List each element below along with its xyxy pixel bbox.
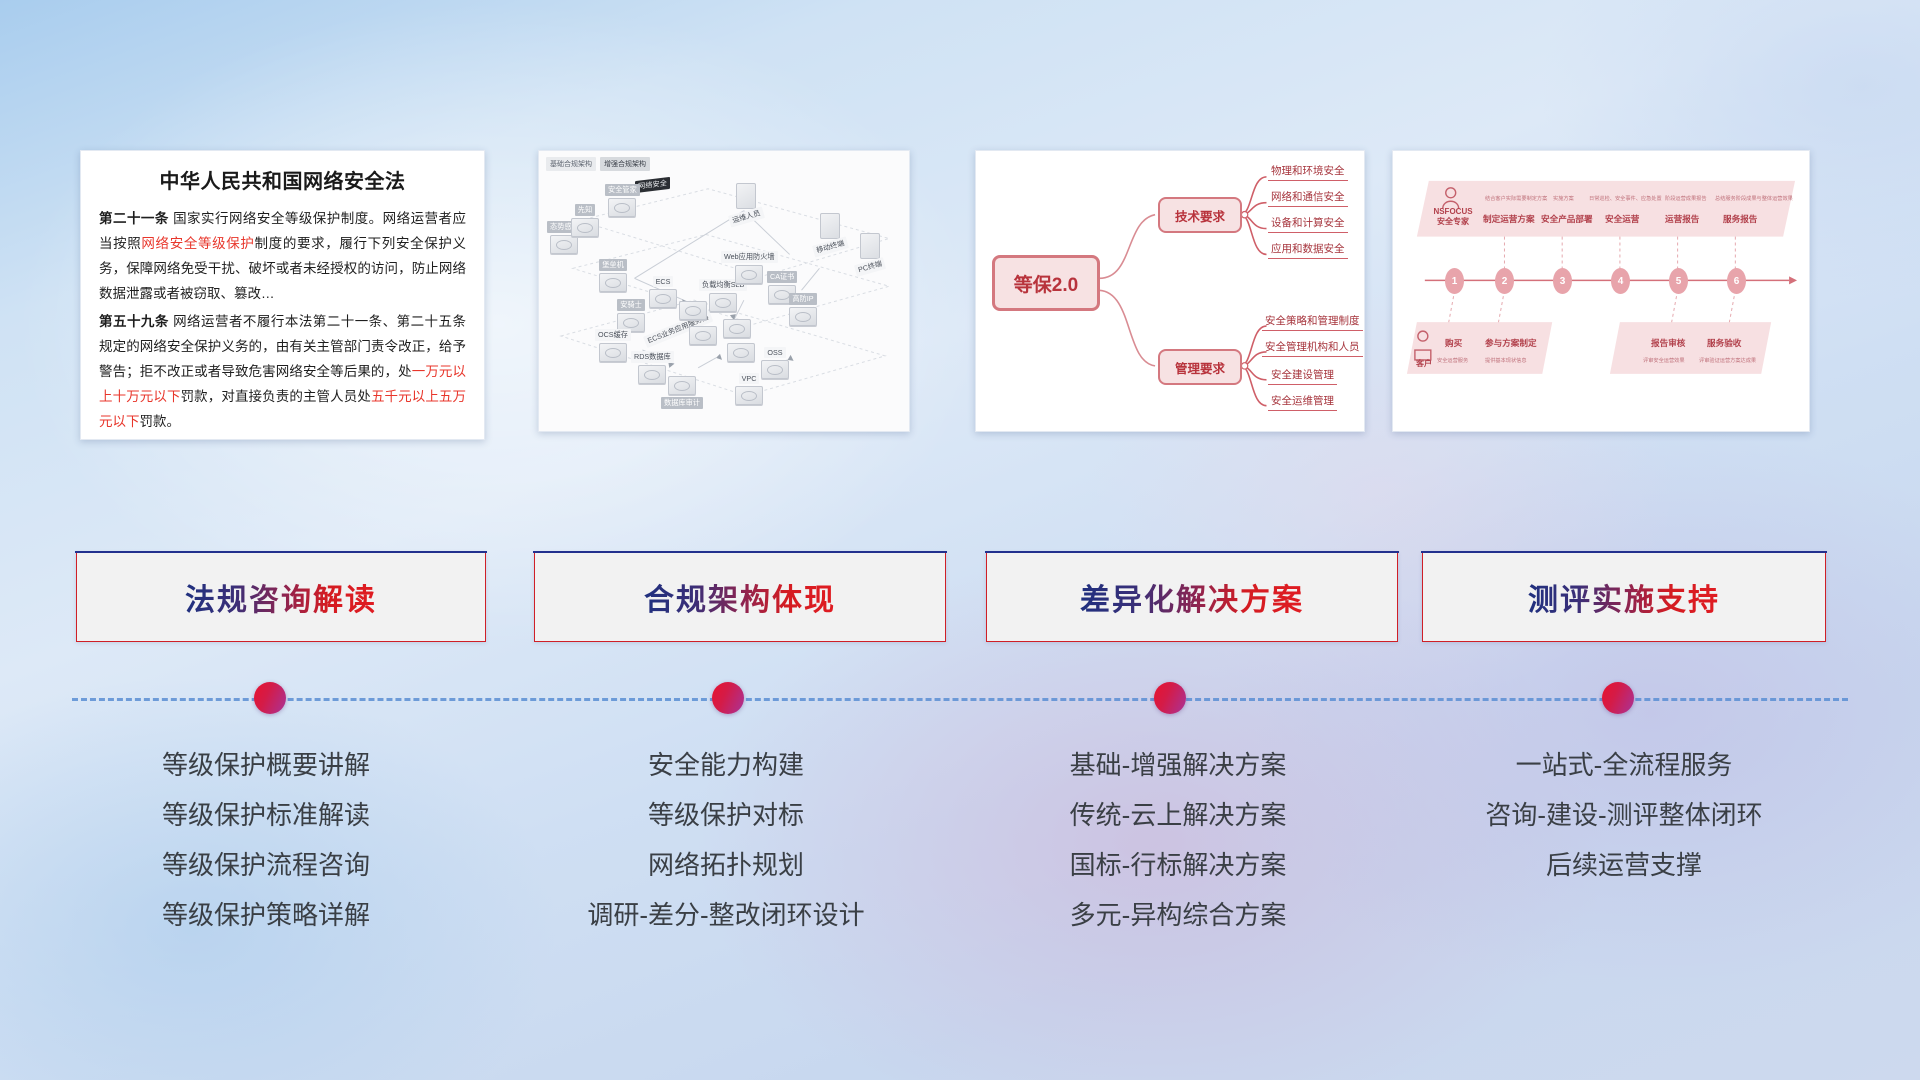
mind-leaf: 安全策略和管理制度 (1262, 313, 1363, 331)
arch-node-ops-staff: 运维人员 (729, 183, 764, 223)
detail-column-3: 基础-增强解决方案 传统-云上解决方案 国标-行标解决方案 多元-异构综合方案 (972, 740, 1384, 940)
mind-leaf: 安全管理机构和人员 (1262, 339, 1363, 357)
arch-node-ecs: ECS (649, 276, 677, 308)
law-text-card[interactable]: 中华人民共和国网络安全法 第二十一条 国家实行网络安全等级保护制度。网络运营者应… (80, 150, 485, 440)
list-item: 一站式-全流程服务 (1412, 740, 1836, 790)
timeline-step-subtitle: 提供基本现状信息 (1485, 357, 1527, 364)
section-title-box-1[interactable]: 法规咨询解读 (76, 552, 486, 642)
section-title-label: 差异化解决方案 (1080, 575, 1304, 619)
list-item: 安全能力构建 (520, 740, 932, 790)
arch-node-label: 安全管家 (605, 184, 640, 196)
law-seg: 罚款，对直接负责的主管人员处 (181, 389, 371, 404)
mind-leaf: 安全运维管理 (1268, 393, 1337, 411)
timeline-step-number: 6 (1727, 268, 1746, 294)
arch-node-anti-ddos-ip: 高防IP (789, 293, 817, 326)
list-item: 等级保护策略详解 (60, 890, 472, 940)
timeline-step-title: 购买 (1445, 337, 1462, 349)
list-item: 调研-差分-整改闭环设计 (520, 890, 932, 940)
list-item: 国标-行标解决方案 (972, 840, 1384, 890)
section-title-label: 合规架构体现 (644, 575, 836, 619)
arch-node-label: 高防IP (789, 293, 816, 305)
timeline-marker-dot-4 (1602, 682, 1634, 714)
list-item: 等级保护对标 (520, 790, 932, 840)
list-item: 等级保护流程咨询 (60, 840, 472, 890)
timeline-marker-dot-2 (712, 682, 744, 714)
timeline-step-title: 安全运营 (1605, 213, 1639, 225)
timeline-step-title: 制定运营方案 (1483, 213, 1535, 225)
timeline-step-number: 2 (1495, 268, 1514, 294)
mind-leaf: 应用和数据安全 (1268, 241, 1348, 259)
timeline-step-number: 4 (1611, 268, 1630, 294)
provider-brand: NSFOCUS (1433, 207, 1472, 216)
arch-node-label: 安骑士 (617, 299, 645, 311)
timeline-marker-dot-1 (254, 682, 286, 714)
timeline-step-subtitle: 结合客户实际需要制定方案 (1485, 195, 1547, 202)
arch-node-label: Web应用防火墙 (721, 251, 778, 263)
arch-node-database-audit: 数据库审计 (661, 376, 703, 409)
list-item: 传统-云上解决方案 (972, 790, 1384, 840)
list-item: 网络拓扑规划 (520, 840, 932, 890)
detail-column-2: 安全能力构建 等级保护对标 网络拓扑规划 调研-差分-整改闭环设计 (520, 740, 932, 940)
timeline-step-title: 服务报告 (1723, 213, 1757, 225)
section-title-box-4[interactable]: 测评实施支持 (1422, 552, 1826, 642)
timeline-step-title: 服务验收 (1707, 337, 1741, 349)
mind-leaf: 物理和环境安全 (1268, 163, 1348, 181)
list-item: 后续运营支撑 (1412, 840, 1836, 890)
list-item: 基础-增强解决方案 (972, 740, 1384, 790)
timeline-provider-label: NSFOCUS 安全专家 (1425, 207, 1481, 227)
law-card-title: 中华人民共和国网络安全法 (99, 165, 466, 194)
timeline-step-subtitle: 实施方案 (1553, 195, 1574, 202)
timeline-step-number: 1 (1445, 268, 1464, 294)
section-title-box-3[interactable]: 差异化解决方案 (986, 552, 1398, 642)
arch-node-label: CA证书 (767, 271, 797, 283)
mind-branch-technical: 技术要求 (1158, 197, 1242, 233)
arch-node-banner: 网络安全 (635, 179, 670, 193)
detail-column-1: 等级保护概要讲解 等级保护标准解读 等级保护流程咨询 等级保护策略详解 (60, 740, 472, 940)
reference-card-row: 中华人民共和国网络安全法 第二十一条 国家实行网络安全等级保护制度。网络运营者应… (0, 150, 1920, 455)
timeline-marker-dot-3 (1154, 682, 1186, 714)
section-title-box-2[interactable]: 合规架构体现 (534, 552, 946, 642)
timeline-step-subtitle: 总结服务阶段成果与整体运营效果 (1715, 195, 1793, 202)
timeline-step-number: 5 (1669, 268, 1688, 294)
list-item: 等级保护标准解读 (60, 790, 472, 840)
mind-leaf: 安全建设管理 (1268, 367, 1337, 385)
mind-branch-management: 管理要求 (1158, 349, 1242, 385)
timeline-step-number: 3 (1553, 268, 1572, 294)
arch-node-ocs-cache: OCS缓存 (595, 329, 631, 362)
section-title-row: 法规咨询解读 合规架构体现 差异化解决方案 测评实施支持 (0, 552, 1920, 644)
list-item: 等级保护概要讲解 (60, 740, 472, 790)
arch-node-mobile-terminal: 移动终端 (813, 213, 848, 253)
law-article: 第二十一条 国家实行网络安全等级保护制度。网络运营者应当按照网络安全等级保护制度… (99, 206, 466, 306)
timeline-step-subtitle: 日常巡检、安全事件、应急处置 (1589, 195, 1662, 202)
arch-node-label: VPC (739, 373, 760, 384)
timeline-step-subtitle: 评审安全运营效果 (1643, 357, 1685, 364)
section-title-label: 法规咨询解读 (185, 575, 377, 619)
law-article-label: 第二十一条 (99, 211, 169, 226)
timeline-step-title: 报告审核 (1651, 337, 1685, 349)
arch-node-label: 先知 (575, 204, 595, 216)
detail-column-4: 一站式-全流程服务 咨询-建设-测评整体闭环 后续运营支撑 (1412, 740, 1836, 890)
timeline-rail (72, 698, 1848, 701)
arch-node-label: OCS缓存 (595, 329, 631, 341)
list-item: 多元-异构综合方案 (972, 890, 1384, 940)
arch-node-oss: OSS (761, 347, 789, 379)
section-title-label: 测评实施支持 (1528, 575, 1720, 619)
mind-leaf: 网络和通信安全 (1268, 189, 1348, 207)
architecture-diagram-card[interactable]: 基础合规架构 增强合规架构 (538, 150, 910, 432)
timeline-step-title: 参与方案制定 (1485, 337, 1537, 349)
arch-node-xianzhi: 先知 (571, 204, 599, 237)
arch-node-label: 网络安全 (635, 177, 670, 193)
arch-node-label: 堡垒机 (599, 259, 627, 271)
timeline-step-subtitle: 评审验证运营方案达成果 (1699, 357, 1756, 364)
arch-node-ecs-stack-a (679, 301, 707, 320)
service-timeline-card[interactable]: NSFOCUS 安全专家 客户 1 2 3 4 5 6 结合客户实际需要制定方案… (1392, 150, 1810, 432)
arch-node-label: RDS数据库 (631, 351, 674, 363)
timeline-step-title: 安全产品部署 (1541, 213, 1593, 225)
mind-leaf: 设备和计算安全 (1268, 215, 1348, 233)
arch-node-ecs-stack-b (689, 326, 717, 345)
mind-map-card[interactable]: 等保2.0 技术要求 管理要求 物理和环境安全 网络和通信安全 设备和计算安全 … (975, 150, 1365, 432)
law-article-label: 第五十九条 (99, 314, 169, 329)
arch-node-ecs-stack-d (727, 343, 755, 362)
arch-node-pc-terminal: PC终端 (855, 233, 885, 273)
list-item: 咨询-建设-测评整体闭环 (1412, 790, 1836, 840)
arch-node-label: 数据库审计 (661, 397, 703, 409)
provider-role: 安全专家 (1437, 217, 1469, 226)
timeline-step-title: 运营报告 (1665, 213, 1699, 225)
arch-node-bastion-host: 堡垒机 (599, 259, 627, 292)
law-seg-red: 网络安全等级保护 (141, 236, 254, 251)
arch-node-label: ECS (653, 276, 674, 287)
timeline-step-subtitle: 安全运营服务 (1437, 357, 1468, 364)
arch-node-ecs-stack-c (723, 319, 751, 338)
timeline-customer-label: 客户 (1407, 359, 1441, 369)
law-seg: 罚款。 (140, 414, 181, 429)
timeline-step-subtitle: 阶段运营成果报告 (1665, 195, 1707, 202)
arch-node-label: OSS (764, 347, 785, 358)
mind-root-node: 等保2.0 (992, 255, 1100, 311)
law-article: 第五十九条 网络运营者不履行本法第二十一条、第二十五条规定的网络安全保护义务的，… (99, 309, 466, 434)
arch-node-security-butler: 安全管家 (605, 184, 640, 217)
arch-node-anqishi: 安骑士 (617, 299, 645, 332)
arch-node-vpc: VPC (735, 373, 763, 405)
